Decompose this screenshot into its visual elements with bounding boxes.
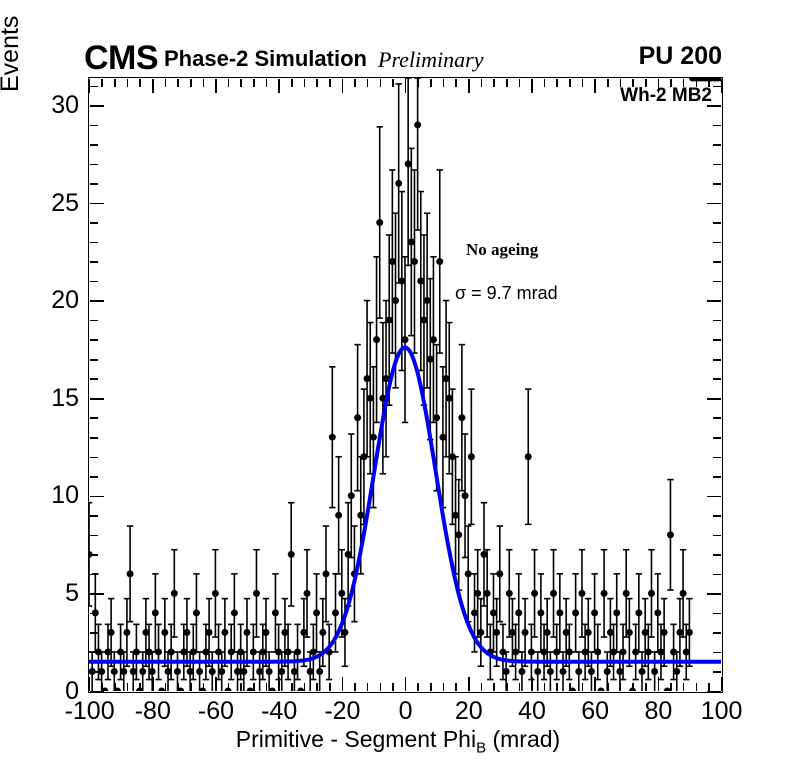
x-tick-top [114, 79, 116, 87]
x-tick [544, 683, 546, 691]
x-tick [127, 683, 129, 691]
y-tick-right [713, 632, 721, 634]
x-tick [291, 683, 293, 691]
x-tick-top [696, 79, 698, 87]
y-tick-right [713, 261, 721, 263]
x-tick [645, 683, 647, 691]
y-tick [90, 222, 98, 224]
x-tick [493, 683, 495, 691]
y-tick-label: 15 [51, 386, 79, 411]
y-tick [90, 378, 98, 380]
x-tick [380, 683, 382, 691]
y-tick [90, 476, 98, 478]
x-tick [89, 677, 91, 691]
x-tick-top [721, 79, 723, 93]
chamber-label: Wh-2 MB2 [620, 86, 712, 105]
x-tick [392, 683, 394, 691]
y-tick-right [713, 222, 721, 224]
x-tick-top [203, 79, 205, 87]
y-tick-label: 5 [65, 581, 79, 606]
x-tick [101, 683, 103, 691]
x-tick [443, 683, 445, 691]
x-tick-top [392, 79, 394, 87]
x-tick [683, 683, 685, 691]
x-tick-top [228, 79, 230, 87]
y-tick-right [713, 417, 721, 419]
x-tick-top [278, 79, 280, 93]
resolution-annotation: σ = 9.7 mrad [455, 284, 558, 302]
y-axis-title: Events [0, 0, 25, 92]
data-layer [89, 78, 721, 691]
x-tick-top [683, 79, 685, 87]
y-tick [90, 593, 104, 595]
x-tick [266, 683, 268, 691]
x-tick [670, 683, 672, 691]
y-tick [90, 242, 98, 244]
y-tick [90, 203, 104, 205]
x-tick [519, 683, 521, 691]
x-tick-top [329, 79, 331, 87]
x-tick-top [645, 79, 647, 87]
x-tick-top [367, 79, 369, 87]
x-tick [253, 683, 255, 691]
y-tick-right [713, 554, 721, 556]
y-tick-right [707, 496, 721, 498]
x-tick-top [443, 79, 445, 87]
x-tick [354, 683, 356, 691]
y-tick [90, 164, 98, 166]
x-tick-top [405, 79, 407, 93]
cms-header: CMS Phase-2 Simulation Preliminary PU 20… [0, 0, 796, 77]
x-tick-top [658, 79, 660, 93]
x-tick-top [253, 79, 255, 87]
x-tick-top [127, 79, 129, 87]
y-tick [90, 554, 98, 556]
y-tick [90, 613, 98, 615]
x-tick-top [582, 79, 584, 87]
x-tick-top [291, 79, 293, 87]
x-tick [304, 683, 306, 691]
x-tick [506, 683, 508, 691]
x-tick-top [177, 79, 179, 87]
x-tick-top [569, 79, 571, 87]
y-tick-right [707, 203, 721, 205]
y-tick-right [707, 300, 721, 302]
y-tick-right [713, 652, 721, 654]
x-tick-top [594, 79, 596, 93]
x-tick [455, 683, 457, 691]
x-tick-top [304, 79, 306, 87]
x-tick [708, 683, 710, 691]
y-tick [90, 300, 104, 302]
x-tick [531, 677, 533, 691]
x-tick-top [556, 79, 558, 87]
y-tick [90, 86, 98, 88]
x-tick [342, 677, 344, 691]
y-tick-right [707, 105, 721, 107]
y-tick [90, 496, 104, 498]
x-tick-top [417, 79, 419, 87]
ageing-annotation: No ageing [466, 241, 538, 258]
x-tick-top [607, 79, 609, 87]
x-tick [190, 683, 192, 691]
x-tick [620, 683, 622, 691]
y-tick-right [713, 515, 721, 517]
y-tick-right [713, 437, 721, 439]
x-tick-top [632, 79, 634, 87]
y-tick-right [713, 144, 721, 146]
y-tick [90, 359, 98, 361]
y-tick-label: 10 [51, 483, 79, 508]
x-tick-top [215, 79, 217, 93]
x-tick [569, 683, 571, 691]
x-tick [607, 683, 609, 691]
x-tick-top [430, 79, 432, 87]
x-tick-top [354, 79, 356, 87]
y-tick [90, 457, 98, 459]
x-tick [582, 683, 584, 691]
x-tick [203, 683, 205, 691]
x-tick [594, 677, 596, 691]
y-tick [90, 339, 98, 341]
x-tick-top [455, 79, 457, 87]
x-tick [152, 677, 154, 691]
x-tick-top [165, 79, 167, 87]
y-tick [90, 261, 98, 263]
x-tick-top [316, 79, 318, 87]
x-tick [215, 677, 217, 691]
x-tick [417, 683, 419, 691]
error-bars [89, 78, 721, 691]
x-tick-top [89, 79, 91, 93]
x-tick [367, 683, 369, 691]
x-tick [316, 683, 318, 691]
x-tick [632, 683, 634, 691]
plot-frame: Wh-2 MB2 [88, 77, 723, 693]
y-tick [90, 398, 104, 400]
x-tick [658, 677, 660, 691]
y-tick-right [713, 183, 721, 185]
y-tick-right [713, 535, 721, 537]
y-tick-right [713, 242, 721, 244]
x-axis-title-main: Primitive - Segment Phi [236, 726, 476, 752]
x-tick [405, 677, 407, 691]
y-tick [90, 437, 98, 439]
x-tick-top [152, 79, 154, 93]
pileup-label: PU 200 [639, 44, 722, 69]
x-tick-top [531, 79, 533, 93]
y-tick [90, 671, 98, 673]
x-tick [114, 683, 116, 691]
x-tick [139, 683, 141, 691]
y-tick-label: 20 [51, 288, 79, 313]
x-tick-top [481, 79, 483, 87]
y-tick [90, 125, 98, 127]
y-tick-label: 25 [51, 191, 79, 216]
y-tick-right [713, 359, 721, 361]
y-tick-right [713, 574, 721, 576]
x-tick [329, 683, 331, 691]
x-tick-label: 100 [677, 699, 767, 724]
y-tick-right [713, 476, 721, 478]
y-tick [90, 183, 98, 185]
y-tick [90, 281, 98, 283]
chart-canvas: CMS Phase-2 Simulation Preliminary PU 20… [0, 0, 796, 772]
y-tick [90, 574, 98, 576]
x-tick [430, 683, 432, 691]
x-tick [481, 683, 483, 691]
y-tick [90, 535, 98, 537]
x-tick-top [506, 79, 508, 87]
x-tick-top [708, 79, 710, 87]
y-tick [90, 417, 98, 419]
y-tick [90, 652, 98, 654]
x-tick-top [544, 79, 546, 87]
y-tick-right [713, 164, 721, 166]
y-tick [90, 632, 98, 634]
x-tick-top [670, 79, 672, 87]
x-tick [556, 683, 558, 691]
x-tick [278, 677, 280, 691]
x-tick-top [101, 79, 103, 87]
x-tick [228, 683, 230, 691]
x-tick [721, 677, 723, 691]
x-tick-top [468, 79, 470, 93]
x-axis-title: Primitive - Segment PhiB (mrad) [0, 726, 796, 756]
y-tick [90, 144, 98, 146]
y-tick-right [713, 457, 721, 459]
x-tick-top [266, 79, 268, 87]
x-tick [177, 683, 179, 691]
x-tick-top [139, 79, 141, 87]
y-tick-right [713, 339, 721, 341]
y-tick-right [713, 613, 721, 615]
x-tick-top [519, 79, 521, 87]
y-tick [90, 320, 98, 322]
y-tick-label: 30 [51, 93, 79, 118]
x-tick-top [380, 79, 382, 87]
y-tick [90, 105, 104, 107]
x-tick [240, 683, 242, 691]
y-tick-right [713, 125, 721, 127]
x-axis-title-unit: (mrad) [492, 726, 560, 752]
y-tick-right [713, 320, 721, 322]
x-tick [165, 683, 167, 691]
y-tick-right [713, 281, 721, 283]
y-tick-right [713, 378, 721, 380]
simulation-label: Phase-2 Simulation [164, 48, 367, 70]
plot-area [89, 78, 722, 692]
x-axis-title-subscript: B [476, 739, 486, 756]
x-tick-top [620, 79, 622, 87]
x-tick-top [240, 79, 242, 87]
x-tick-top [342, 79, 344, 93]
cms-logo-text: CMS [84, 41, 158, 75]
y-tick [90, 515, 98, 517]
y-tick-right [707, 398, 721, 400]
y-tick-right [713, 671, 721, 673]
x-tick [696, 683, 698, 691]
x-tick-top [190, 79, 192, 87]
y-tick-right [707, 593, 721, 595]
x-tick-top [493, 79, 495, 87]
x-tick [468, 677, 470, 691]
preliminary-label: Preliminary [378, 49, 484, 71]
